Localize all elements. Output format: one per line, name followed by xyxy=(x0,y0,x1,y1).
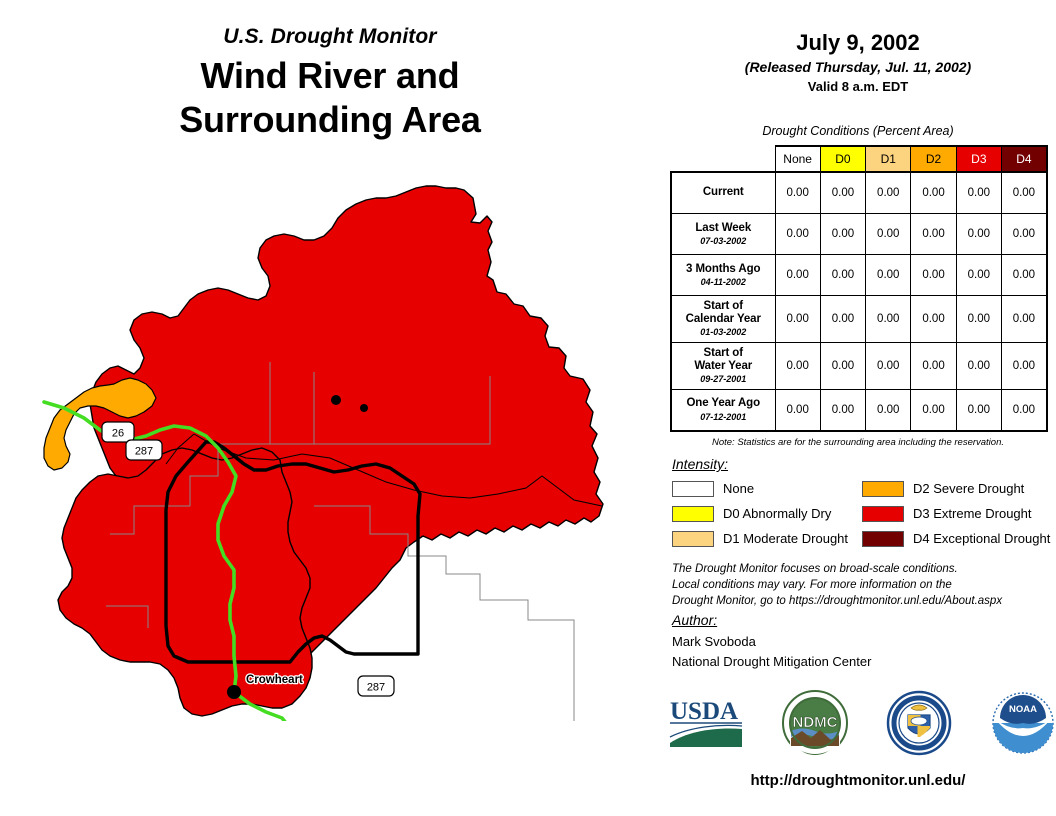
legend-item-none: None xyxy=(672,476,848,501)
cell-d3: 0.00 xyxy=(956,342,1001,389)
release-date: (Released Thursday, Jul. 11, 2002) xyxy=(660,59,1056,76)
cell-d4: 0.00 xyxy=(1001,255,1046,296)
row-name: One Year Ago xyxy=(674,397,773,410)
swatch-none xyxy=(672,481,714,497)
drought-map[interactable]: Crowheart Fort Washakie Ethete Riverton … xyxy=(18,176,648,721)
legend-item-d0: D0 Abnormally Dry xyxy=(672,501,848,526)
row-name: Current xyxy=(674,186,773,199)
column-header-none: None xyxy=(775,146,820,172)
row-label-current: Current xyxy=(671,172,775,214)
row-date: 04-11-2002 xyxy=(674,277,773,287)
cell-d3: 0.00 xyxy=(956,255,1001,296)
legend-label: D3 Extreme Drought xyxy=(913,506,1032,521)
author-name: Mark Svoboda xyxy=(672,632,871,652)
cell-d0: 0.00 xyxy=(820,214,865,255)
column-header-d0: D0 xyxy=(820,146,865,172)
cell-d2: 0.00 xyxy=(911,214,956,255)
table-row: One Year Ago 07-12-2001 0.00 0.00 0.00 0… xyxy=(671,389,1047,431)
highway-shield-26-west: 26 xyxy=(102,422,134,442)
cell-d4: 0.00 xyxy=(1001,342,1046,389)
cell-d3: 0.00 xyxy=(956,389,1001,431)
cell-d2: 0.00 xyxy=(911,255,956,296)
date-block: July 9, 2002 (Released Thursday, Jul. 11… xyxy=(660,30,1056,95)
author-organization: National Drought Mitigation Center xyxy=(672,652,871,672)
cell-d3: 0.00 xyxy=(956,296,1001,343)
swatch-d0 xyxy=(672,506,714,522)
legend-item-d2: D2 Severe Drought xyxy=(862,476,1050,501)
intensity-heading: Intensity: xyxy=(672,456,728,472)
cell-d0: 0.00 xyxy=(820,389,865,431)
cell-d2: 0.00 xyxy=(911,172,956,214)
svg-text:NOAA: NOAA xyxy=(1009,704,1037,715)
cell-d2: 0.00 xyxy=(911,296,956,343)
ndmc-logo[interactable]: NDMC xyxy=(782,690,848,761)
table-row: Last Week 07-03-2002 0.00 0.00 0.00 0.00… xyxy=(671,214,1047,255)
row-label-start-calendar-year: Start ofCalendar Year 01-03-2002 xyxy=(671,296,775,343)
cell-none: 0.00 xyxy=(775,172,820,214)
page-title: Wind River and Surrounding Area xyxy=(0,54,660,142)
cell-d0: 0.00 xyxy=(820,172,865,214)
noaa-logo[interactable]: NOAA xyxy=(990,690,1056,761)
column-header-d4: D4 xyxy=(1001,146,1046,172)
legend-label: None xyxy=(723,481,754,496)
region-title-line1: Wind River and xyxy=(0,54,660,98)
cell-d0: 0.00 xyxy=(820,296,865,343)
table-body: Current 0.00 0.00 0.00 0.00 0.00 0.00 La… xyxy=(671,172,1047,431)
city-label-crowheart: Crowheart xyxy=(246,674,303,686)
row-label-3-months-ago: 3 Months Ago 04-11-2002 xyxy=(671,255,775,296)
drought-conditions-table: None D0 D1 D2 D3 D4 Current 0.00 0.00 0.… xyxy=(670,145,1048,432)
svg-text:26: 26 xyxy=(112,428,124,440)
legend-item-d4: D4 Exceptional Drought xyxy=(862,526,1050,551)
row-label-one-year-ago: One Year Ago 07-12-2001 xyxy=(671,389,775,431)
agency-logos: USDA NDMC xyxy=(668,690,1056,760)
cell-d4: 0.00 xyxy=(1001,389,1046,431)
row-date: 01-03-2002 xyxy=(674,327,773,337)
cell-d1: 0.00 xyxy=(866,214,911,255)
author-heading: Author: xyxy=(672,612,717,628)
legend-label: D0 Abnormally Dry xyxy=(723,506,831,521)
cell-d4: 0.00 xyxy=(1001,172,1046,214)
cell-d1: 0.00 xyxy=(866,389,911,431)
svg-text:NDMC: NDMC xyxy=(793,714,838,731)
cell-d2: 0.00 xyxy=(911,389,956,431)
row-name: Last Week xyxy=(674,222,773,235)
cell-d1: 0.00 xyxy=(866,296,911,343)
legend-label: D2 Severe Drought xyxy=(913,481,1024,496)
author-block: Mark Svoboda National Drought Mitigation… xyxy=(672,632,871,672)
swatch-d4 xyxy=(862,531,904,547)
svg-text:287: 287 xyxy=(367,682,385,694)
region-title-line2: Surrounding Area xyxy=(0,98,660,142)
cell-none: 0.00 xyxy=(775,214,820,255)
svg-text:287: 287 xyxy=(135,446,153,458)
cell-d1: 0.00 xyxy=(866,172,911,214)
map-panel: U.S. Drought Monitor Wind River and Surr… xyxy=(0,0,660,816)
row-date: 09-27-2001 xyxy=(674,374,773,384)
site-url[interactable]: http://droughtmonitor.unl.edu/ xyxy=(660,772,1056,789)
table-row: Current 0.00 0.00 0.00 0.00 0.00 0.00 xyxy=(671,172,1047,214)
cell-d3: 0.00 xyxy=(956,214,1001,255)
cell-d4: 0.00 xyxy=(1001,296,1046,343)
disclaimer-line-1: The Drought Monitor focuses on broad-sca… xyxy=(672,562,1056,578)
city-marker xyxy=(227,685,241,699)
cell-none: 0.00 xyxy=(775,342,820,389)
program-title: U.S. Drought Monitor xyxy=(0,26,660,48)
table-row: 3 Months Ago 04-11-2002 0.00 0.00 0.00 0… xyxy=(671,255,1047,296)
row-date: 07-03-2002 xyxy=(674,236,773,246)
row-date: 07-12-2001 xyxy=(674,412,773,422)
table-note: Note: Statistics are for the surrounding… xyxy=(660,437,1056,448)
info-panel: July 9, 2002 (Released Thursday, Jul. 11… xyxy=(660,0,1056,816)
highway-shield-287-south: 287 xyxy=(358,676,394,696)
usda-logo[interactable]: USDA xyxy=(668,695,744,756)
legend-item-d1: D1 Moderate Drought xyxy=(672,526,848,551)
title-block: U.S. Drought Monitor Wind River and Surr… xyxy=(0,26,660,142)
cell-none: 0.00 xyxy=(775,296,820,343)
header-spacer xyxy=(671,146,775,172)
valid-time: Valid 8 a.m. EDT xyxy=(660,79,1056,95)
drought-monitor-page: U.S. Drought Monitor Wind River and Surr… xyxy=(0,0,1056,816)
legend-label: D4 Exceptional Drought xyxy=(913,531,1050,546)
disclaimer-line-3: Drought Monitor, go to https://droughtmo… xyxy=(672,594,1056,610)
cell-d2: 0.00 xyxy=(911,342,956,389)
row-name: 3 Months Ago xyxy=(674,263,773,276)
column-header-d2: D2 xyxy=(911,146,956,172)
cell-d1: 0.00 xyxy=(866,255,911,296)
row-label-last-week: Last Week 07-03-2002 xyxy=(671,214,775,255)
table-row: Start ofCalendar Year 01-03-2002 0.00 0.… xyxy=(671,296,1047,343)
cell-none: 0.00 xyxy=(775,389,820,431)
cell-d3: 0.00 xyxy=(956,172,1001,214)
cell-d4: 0.00 xyxy=(1001,214,1046,255)
row-name: Start ofWater Year xyxy=(674,347,773,373)
row-name: Start ofCalendar Year xyxy=(674,300,773,326)
row-label-start-water-year: Start ofWater Year 09-27-2001 xyxy=(671,342,775,389)
cell-d0: 0.00 xyxy=(820,255,865,296)
legend-column-2: D2 Severe Drought D3 Extreme Drought D4 … xyxy=(862,476,1050,551)
table-caption: Drought Conditions (Percent Area) xyxy=(660,124,1056,138)
disclaimer-line-2: Local conditions may vary. For more info… xyxy=(672,578,1056,594)
usdc-logo[interactable] xyxy=(886,690,952,761)
cell-d0: 0.00 xyxy=(820,342,865,389)
report-date: July 9, 2002 xyxy=(660,30,1056,55)
legend-item-d3: D3 Extreme Drought xyxy=(862,501,1050,526)
cell-d1: 0.00 xyxy=(866,342,911,389)
swatch-d2 xyxy=(862,481,904,497)
column-header-d3: D3 xyxy=(956,146,1001,172)
cell-none: 0.00 xyxy=(775,255,820,296)
svg-text:USDA: USDA xyxy=(670,698,738,725)
legend-column-1: None D0 Abnormally Dry D1 Moderate Droug… xyxy=(672,476,848,551)
legend-label: D1 Moderate Drought xyxy=(723,531,848,546)
table-header-row: None D0 D1 D2 D3 D4 xyxy=(671,146,1047,172)
column-header-d1: D1 xyxy=(866,146,911,172)
table-row: Start ofWater Year 09-27-2001 0.00 0.00 … xyxy=(671,342,1047,389)
highway-shield-287-west: 287 xyxy=(126,440,162,460)
swatch-d3 xyxy=(862,506,904,522)
swatch-d1 xyxy=(672,531,714,547)
disclaimer-text: The Drought Monitor focuses on broad-sca… xyxy=(672,562,1056,610)
